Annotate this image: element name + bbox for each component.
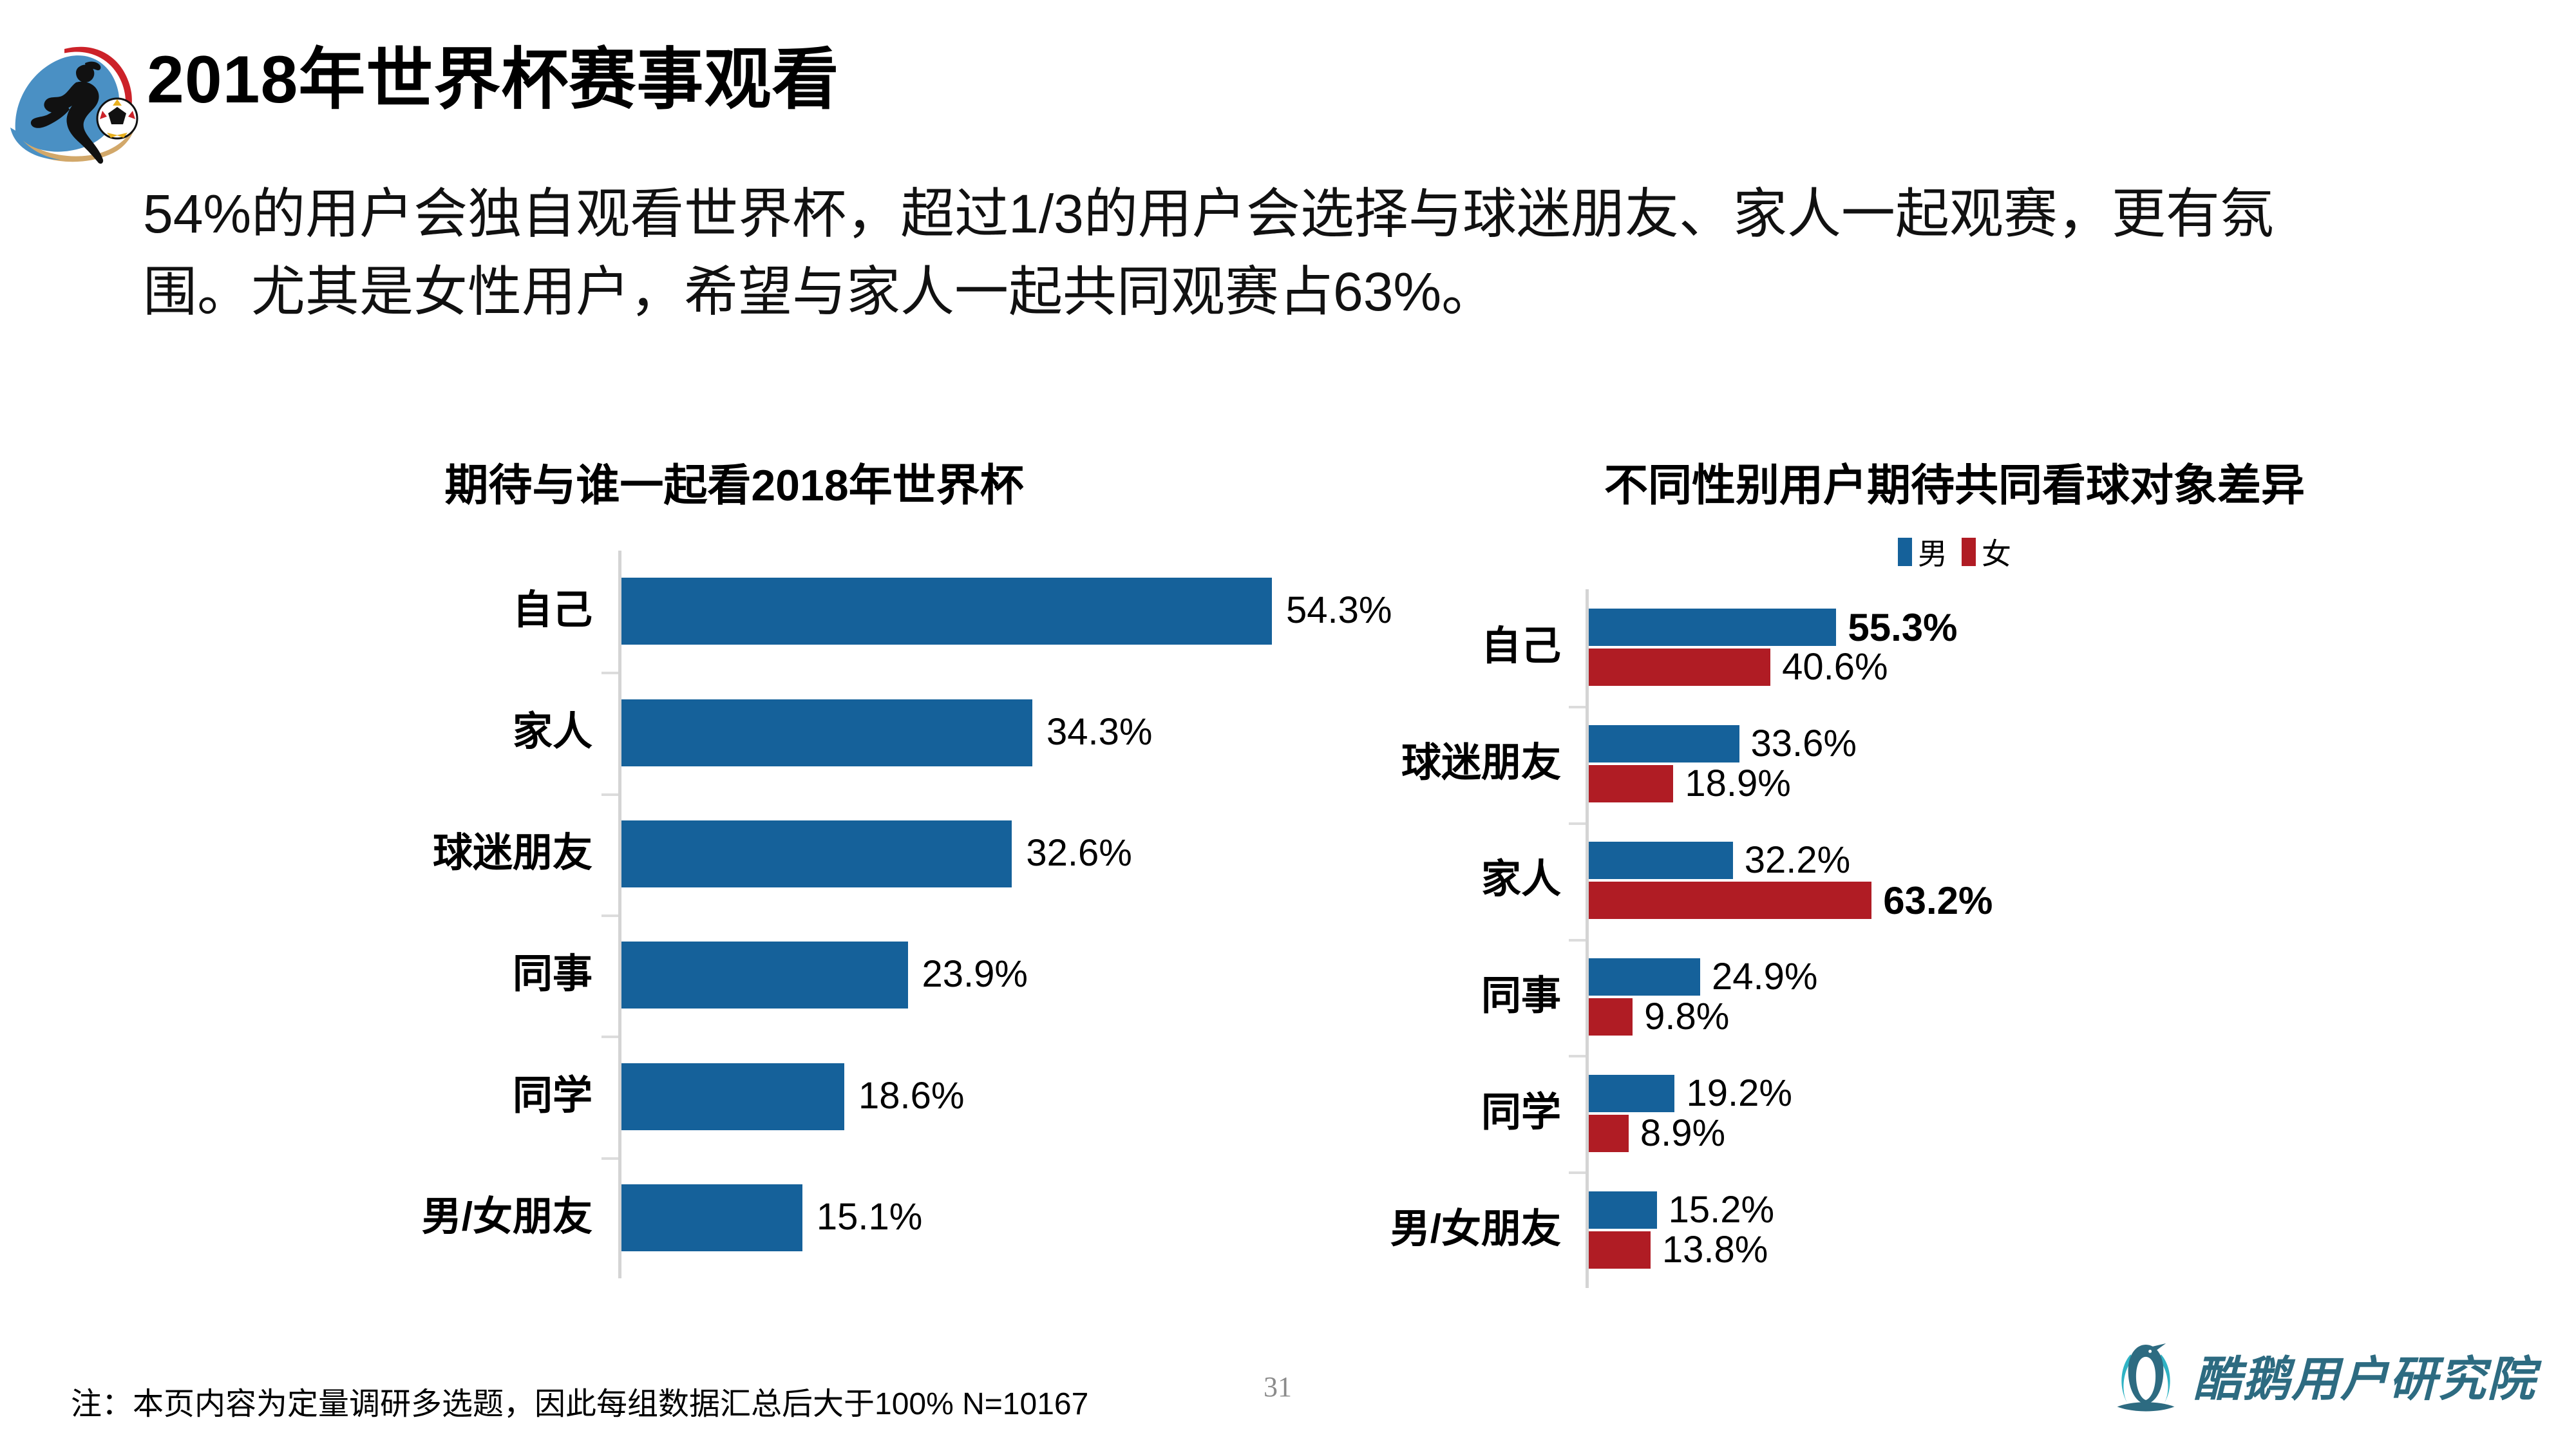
bar-value-male [1589, 1075, 1674, 1112]
chart-overall: 期待与谁一起看2018年世界杯 自己54.3%家人34.3%球迷朋友32.6%同… [193, 464, 1275, 1301]
category-label: 球迷朋友 [433, 833, 592, 873]
page-number: 31 [1264, 1370, 1292, 1403]
chart-overall-plot: 自己54.3%家人34.3%球迷朋友32.6%同事23.9%同学18.6%男/女… [193, 551, 1275, 1278]
category-label: 同事 [1481, 976, 1561, 1016]
world-cup-soccer-player-icon [9, 37, 141, 166]
bar-value [621, 699, 1032, 766]
category-axis-line [1586, 589, 1589, 1288]
category-label: 家人 [513, 712, 592, 752]
page-title: 2018年世界杯赛事观看 [147, 46, 839, 113]
category-label: 自己 [1481, 627, 1561, 667]
penguin-icon [2112, 1341, 2179, 1417]
bar-value-label: 32.2% [1745, 842, 1850, 879]
bar-value-label: 24.9% [1712, 958, 1817, 996]
legend-item-female: 女 [1962, 531, 2011, 573]
subtitle-line-2: 围。尤其是女性用户，希望与家人一起共同观赛占63%。 [143, 253, 2500, 331]
bar-value [621, 942, 908, 1009]
footnote: 注：本页内容为定量调研多选题，因此每组数据汇总后大于100% N=10167 [71, 1378, 1088, 1423]
category-label: 自己 [513, 591, 592, 630]
bar-value [621, 1063, 844, 1130]
bar-value-label: 9.8% [1644, 998, 1729, 1036]
category-label: 男/女朋友 [1390, 1209, 1561, 1249]
bar-value [621, 578, 1272, 645]
legend-swatch-female [1962, 538, 1976, 566]
bar-value-label: 63.2% [1883, 882, 1993, 920]
bar-value [621, 1184, 802, 1251]
bar-value-male [1589, 1191, 1657, 1229]
bar-value-female [1589, 998, 1633, 1036]
axis-tick [601, 914, 618, 917]
category-label: 同学 [513, 1076, 592, 1116]
subtitle-line-1: 54%的用户会独自观看世界杯，超过1/3的用户会选择与球迷朋友、家人一起观赛，更… [143, 175, 2500, 253]
category-label: 球迷朋友 [1401, 743, 1561, 783]
chart-by-gender-plot: 自己55.3%40.6%球迷朋友33.6%18.9%家人32.2%63.2%同事… [1378, 589, 2531, 1288]
bar-value-female [1589, 649, 1770, 686]
axis-tick [601, 1036, 618, 1038]
axis-tick [1569, 822, 1586, 825]
bar-value-label: 13.8% [1662, 1231, 1768, 1269]
axis-tick [1569, 1055, 1586, 1057]
bar-value-label: 33.6% [1751, 725, 1857, 762]
legend-swatch-male [1898, 538, 1912, 566]
axis-tick [1569, 1171, 1586, 1174]
category-label: 同事 [513, 954, 592, 994]
bar-value-label: 15.2% [1669, 1191, 1774, 1229]
bar-value-label: 18.6% [858, 1077, 964, 1115]
chart-overall-title: 期待与谁一起看2018年世界杯 [193, 464, 1275, 507]
bar-value-label: 32.6% [1026, 835, 1132, 872]
bar-value-label: 40.6% [1782, 649, 1888, 686]
axis-tick [601, 672, 618, 674]
legend-item-male: 男 [1898, 531, 1947, 573]
bar-value-label: 34.3% [1046, 714, 1152, 751]
bar-value-label: 18.9% [1685, 765, 1790, 802]
bar-value-female [1589, 882, 1871, 919]
category-label: 同学 [1481, 1093, 1561, 1133]
axis-tick [1569, 706, 1586, 708]
category-label: 男/女朋友 [422, 1197, 592, 1237]
brand-name: 酷鹅用户研究院 [2193, 1356, 2536, 1403]
brand-logo: 酷鹅用户研究院 [2112, 1341, 2536, 1417]
axis-tick [601, 793, 618, 796]
bar-value-male [1589, 958, 1700, 996]
category-axis-line [618, 551, 621, 1278]
bar-value-label: 15.1% [817, 1198, 922, 1236]
chart-by-gender: 不同性别用户期待共同看球对象差异 男 女 自己55.3%40.6%球迷朋友33.… [1378, 464, 2531, 1301]
bar-value-female [1589, 765, 1673, 802]
category-label: 家人 [1481, 860, 1561, 900]
axis-tick [601, 1157, 618, 1160]
chart-by-gender-title: 不同性别用户期待共同看球对象差异 [1378, 464, 2531, 507]
bar-value-male [1589, 609, 1836, 646]
slide-subtitle: 54%的用户会独自观看世界杯，超过1/3的用户会选择与球迷朋友、家人一起观赛，更… [143, 175, 2500, 331]
legend-label-female: 女 [1982, 531, 2011, 573]
bar-value-label: 23.9% [922, 956, 1028, 993]
bar-value-female [1589, 1231, 1651, 1269]
bar-value-label: 55.3% [1848, 609, 1957, 647]
slide-header: 2018年世界杯赛事观看 [0, 0, 2576, 187]
bar-value-label: 54.3% [1286, 592, 1392, 629]
bar-value-female [1589, 1115, 1629, 1152]
bar-value [621, 820, 1012, 887]
bar-value-label: 19.2% [1686, 1075, 1792, 1112]
bar-value-male [1589, 842, 1733, 879]
bar-value-male [1589, 725, 1739, 762]
axis-tick [1569, 939, 1586, 942]
bar-value-label: 8.9% [1640, 1115, 1725, 1152]
chart-legend: 男 女 [1378, 531, 2531, 573]
legend-label-male: 男 [1918, 531, 1947, 573]
